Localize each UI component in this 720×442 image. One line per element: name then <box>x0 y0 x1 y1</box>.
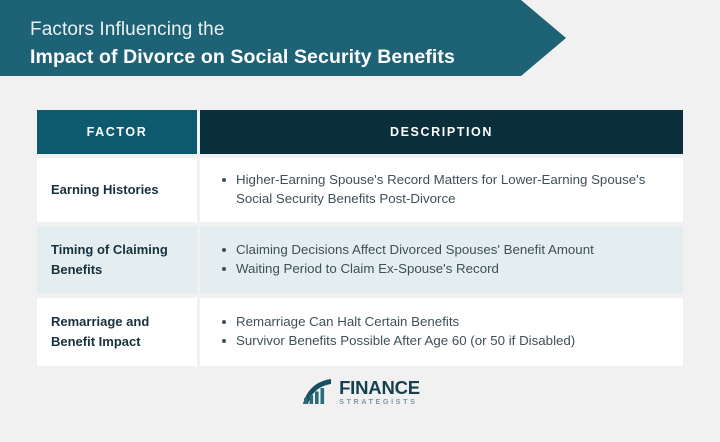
factor-cell: Timing of Claiming Benefits <box>37 226 197 294</box>
factors-table: FACTOR DESCRIPTION Earning Histories Hig… <box>37 110 683 366</box>
list-item: Claiming Decisions Affect Divorced Spous… <box>222 241 669 260</box>
banner-subtitle: Factors Influencing the <box>30 17 566 44</box>
list-item: Survivor Benefits Possible After Age 60 … <box>222 332 669 351</box>
list-item: Higher-Earning Spouse's Record Matters f… <box>222 171 669 209</box>
factor-label: Earning Histories <box>51 180 159 200</box>
column-header-factor-label: FACTOR <box>87 125 148 139</box>
table-row: Earning Histories Higher-Earning Spouse'… <box>37 158 683 222</box>
description-bullet-list: Claiming Decisions Affect Divorced Spous… <box>222 241 669 279</box>
factor-label: Remarriage and Benefit Impact <box>51 312 181 352</box>
finance-strategists-mark-icon <box>300 378 334 406</box>
logo-wordmark: FINANCE STRATEGISTS <box>339 379 420 406</box>
brand-logo: FINANCE STRATEGISTS <box>0 378 720 406</box>
table-row: Timing of Claiming Benefits Claiming Dec… <box>37 226 683 294</box>
list-item: Waiting Period to Claim Ex-Spouse's Reco… <box>222 260 669 279</box>
column-header-description-label: DESCRIPTION <box>390 125 493 139</box>
logo-subtitle: STRATEGISTS <box>339 398 420 405</box>
description-bullet-list: Remarriage Can Halt Certain Benefits Sur… <box>222 313 669 351</box>
description-cell: Higher-Earning Spouse's Record Matters f… <box>200 158 683 222</box>
column-header-description: DESCRIPTION <box>200 110 683 154</box>
column-header-factor: FACTOR <box>37 110 197 154</box>
description-bullet-list: Higher-Earning Spouse's Record Matters f… <box>222 171 669 209</box>
factor-cell: Remarriage and Benefit Impact <box>37 298 197 366</box>
header-banner: Factors Influencing the Impact of Divorc… <box>0 0 566 76</box>
description-cell: Claiming Decisions Affect Divorced Spous… <box>200 226 683 294</box>
factor-cell: Earning Histories <box>37 158 197 222</box>
banner-title: Impact of Divorce on Social Security Ben… <box>30 44 566 72</box>
description-cell: Remarriage Can Halt Certain Benefits Sur… <box>200 298 683 366</box>
logo-name: FINANCE <box>339 379 420 398</box>
list-item: Remarriage Can Halt Certain Benefits <box>222 313 669 332</box>
table-row: Remarriage and Benefit Impact Remarriage… <box>37 298 683 366</box>
factor-label: Timing of Claiming Benefits <box>51 240 181 280</box>
table-header-row: FACTOR DESCRIPTION <box>37 110 683 154</box>
